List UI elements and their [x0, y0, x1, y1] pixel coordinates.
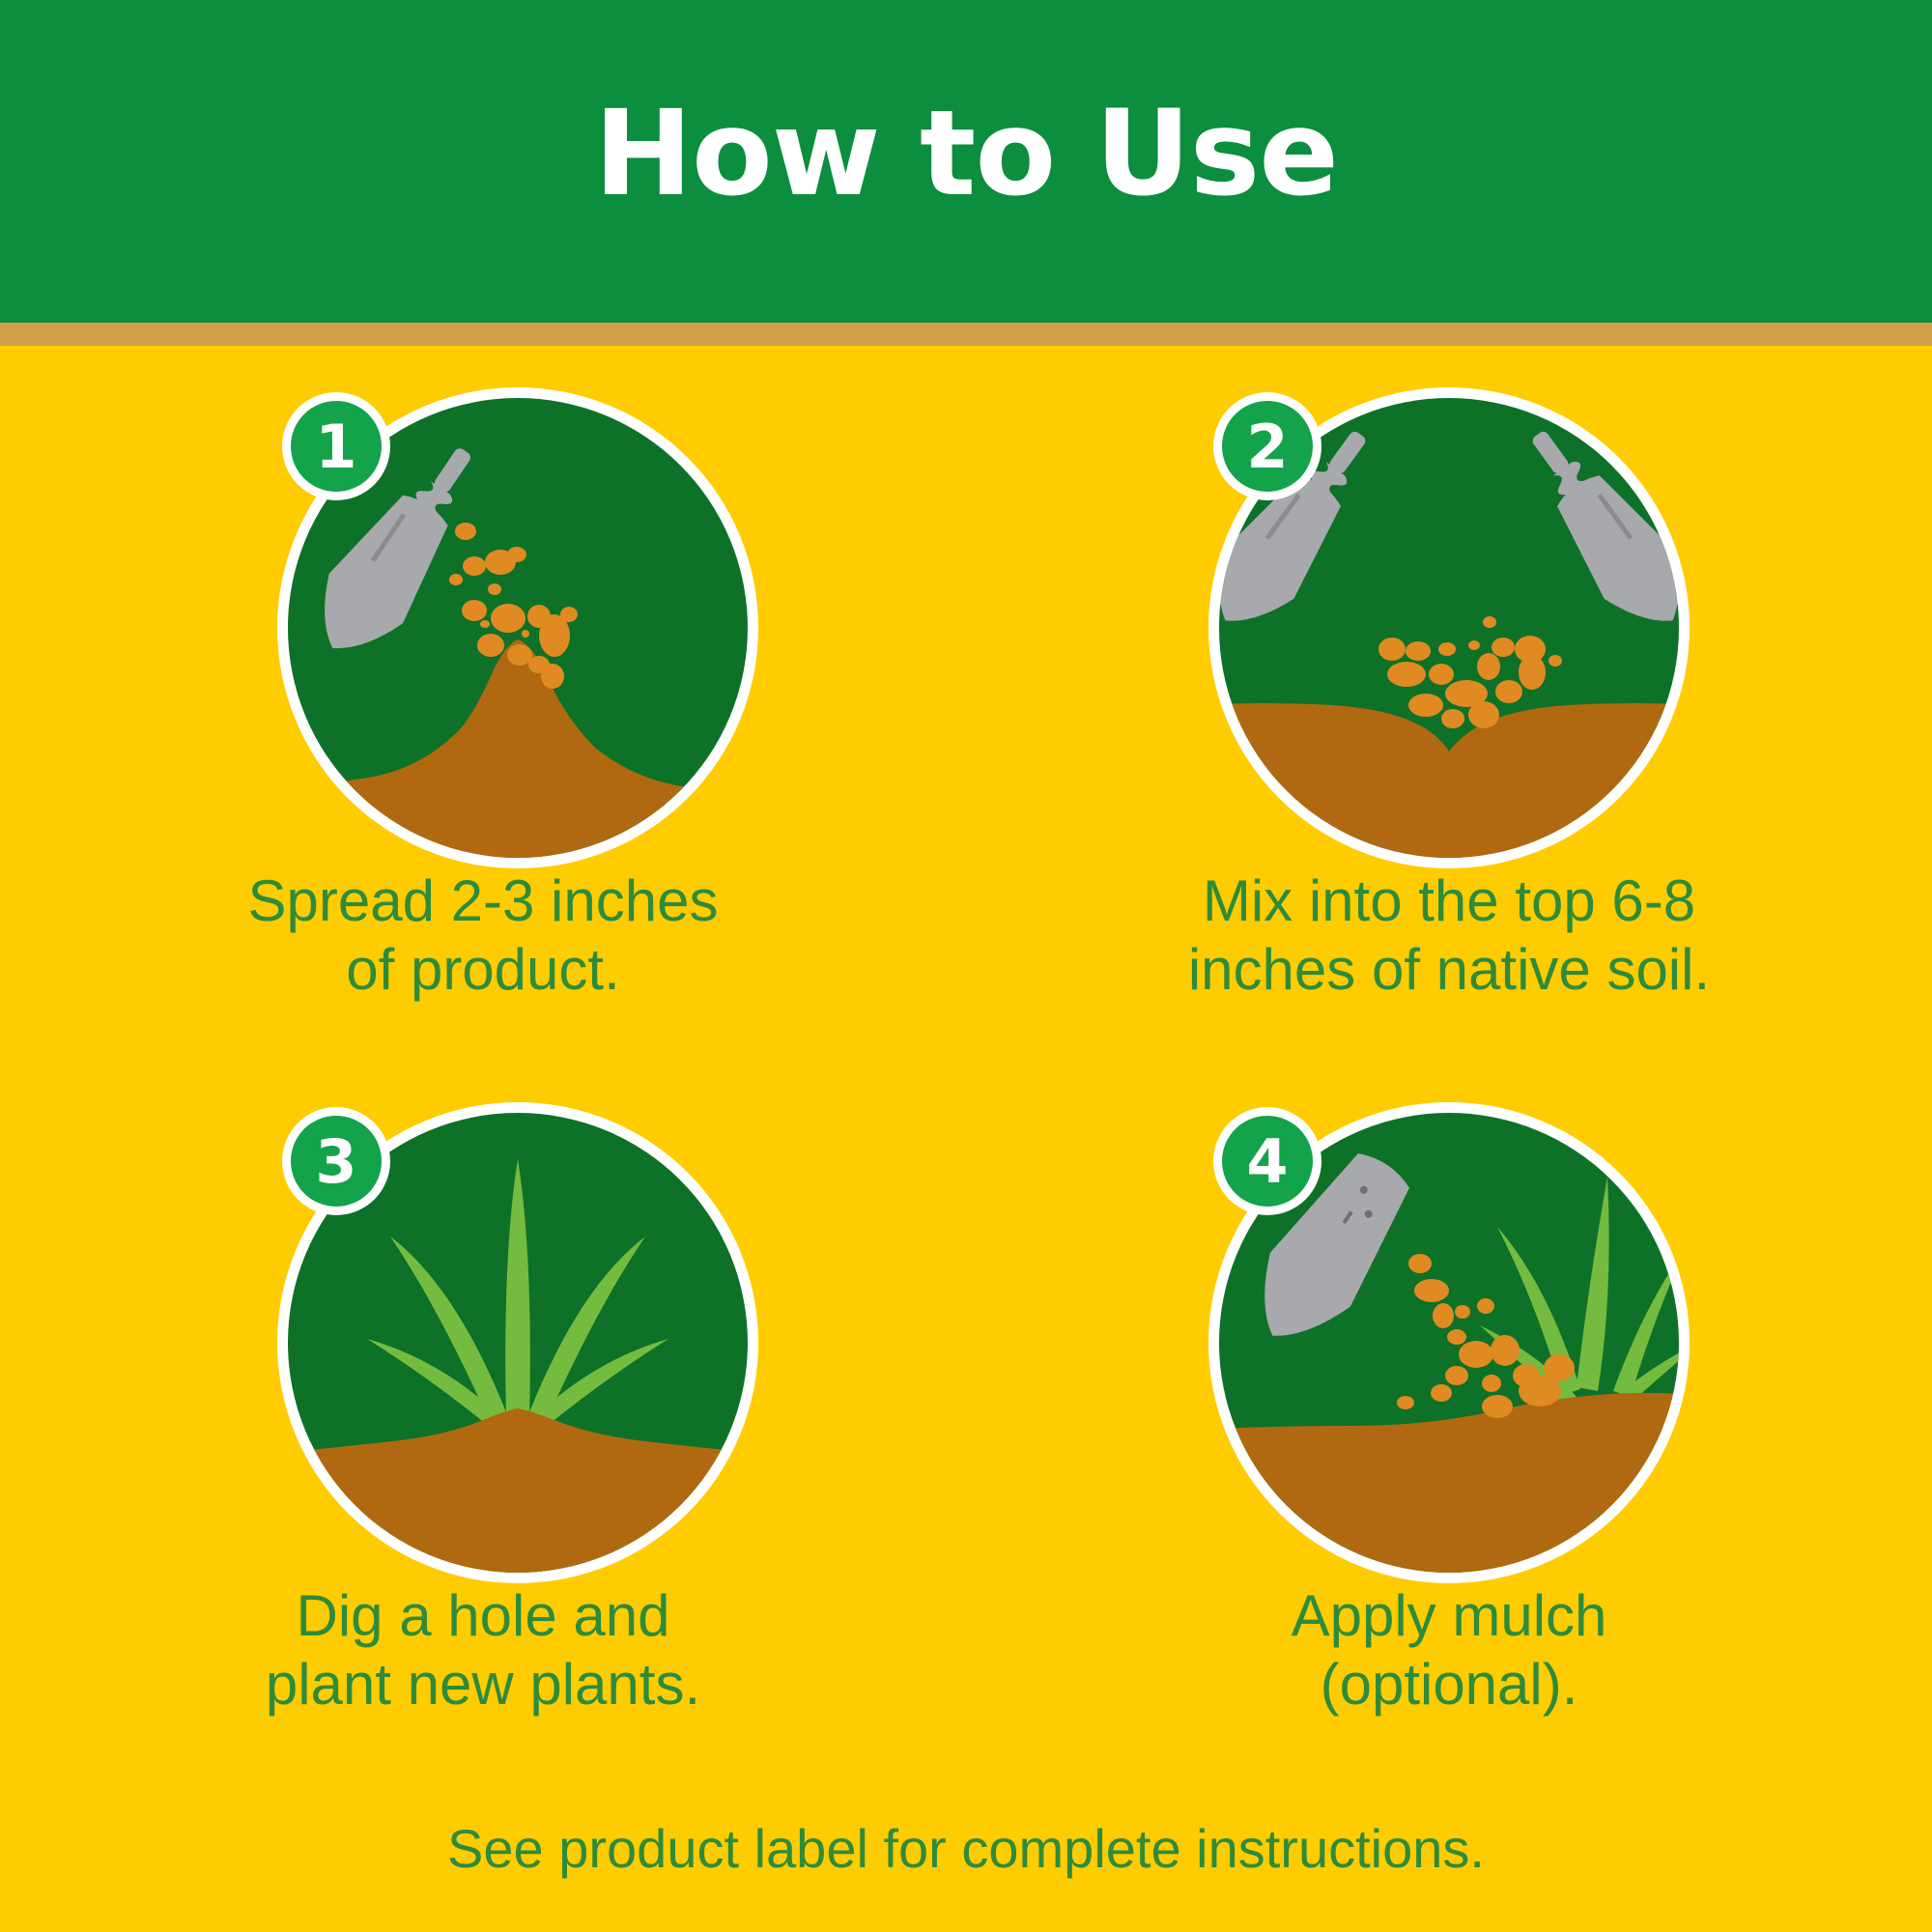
step-2-illustration: 2 — [1207, 386, 1690, 869]
step-3-caption: Dig a hole and plant new plants. — [0, 1582, 966, 1719]
caption-line: Apply mulch — [966, 1582, 1932, 1651]
header-divider-rule — [0, 323, 1932, 346]
step-number-badge: 3 — [282, 1107, 390, 1215]
step-number-text: 4 — [1246, 1126, 1288, 1197]
caption-line: (optional). — [966, 1651, 1932, 1719]
caption-line: Mix into the top 6-8 — [966, 867, 1932, 936]
step-4-illustration: 4 — [1207, 1101, 1690, 1584]
caption-line: inches of native soil. — [966, 936, 1932, 1005]
caption-line: Dig a hole and — [0, 1582, 966, 1651]
page-title: How to Use — [594, 95, 1338, 213]
step-number-text: 1 — [315, 412, 356, 482]
step-number-badge: 1 — [282, 392, 390, 500]
step-number-text: 3 — [315, 1126, 356, 1197]
steps-grid: 1 Spread 2-3 inches of product. — [0, 346, 1932, 1932]
step-1-caption: Spread 2-3 inches of product. — [0, 867, 966, 1005]
step-card-3: 3 Dig a hole and plant new plants. — [0, 1061, 966, 1804]
footer-note: See product label for complete instructi… — [0, 1816, 1932, 1881]
caption-line: plant new plants. — [0, 1651, 966, 1719]
step-number-badge: 4 — [1213, 1107, 1321, 1215]
step-card-4: 4 Apply mulch (optional). — [966, 1061, 1932, 1804]
caption-line: Spread 2-3 inches — [0, 867, 966, 936]
step-card-2: 2 Mix into the top 6-8 inches of native … — [966, 346, 1932, 1090]
step-4-caption: Apply mulch (optional). — [966, 1582, 1932, 1719]
step-number-badge: 2 — [1213, 392, 1321, 500]
step-number-text: 2 — [1246, 412, 1288, 482]
step-1-illustration: 1 — [276, 386, 759, 869]
how-to-use-infographic: How to Use — [0, 0, 1932, 1932]
step-2-caption: Mix into the top 6-8 inches of native so… — [966, 867, 1932, 1005]
header-band: How to Use — [0, 0, 1932, 323]
step-3-illustration: 3 — [276, 1101, 759, 1584]
step-card-1: 1 Spread 2-3 inches of product. — [0, 346, 966, 1090]
caption-line: of product. — [0, 936, 966, 1005]
